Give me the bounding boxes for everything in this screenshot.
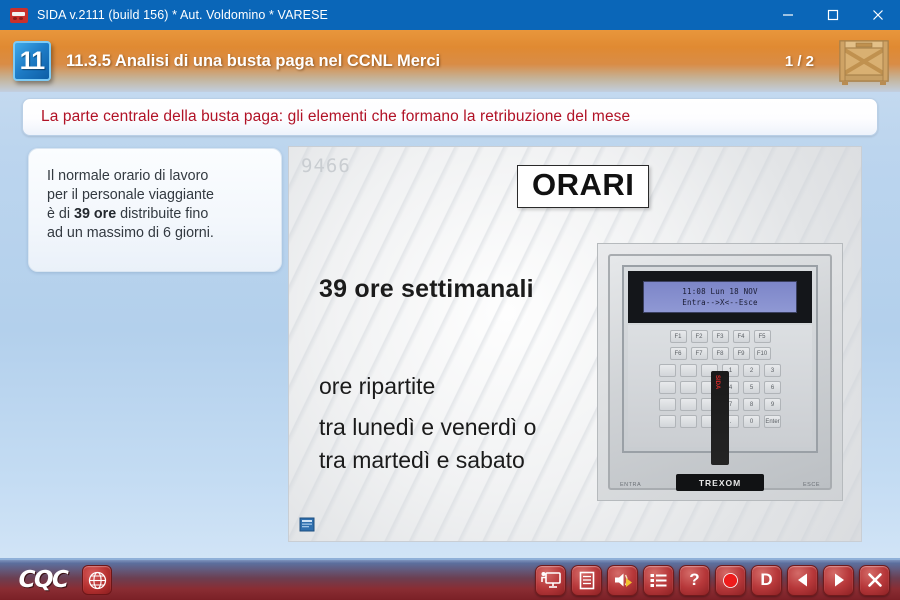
lcd-display: 11:08 Lun 18 NOV Entra-->X<--Esce — [643, 281, 796, 313]
device-label-entra: ENTRA — [620, 482, 641, 488]
arrow-left-icon — [794, 572, 812, 588]
key-f2[interactable]: F2 — [691, 330, 708, 343]
device-inner-panel: 11:08 Lun 18 NOV Entra-->X<--Esce F1 F2 … — [622, 265, 818, 453]
key-f1[interactable]: F1 — [670, 330, 687, 343]
device-brand-plate: TREXOM — [676, 474, 764, 491]
lesson-number: 11 — [20, 49, 44, 74]
device-label-esce: ESCE — [803, 482, 820, 488]
key-f7[interactable]: F7 — [691, 347, 708, 360]
maximize-button[interactable] — [810, 0, 855, 30]
bottom-toolbar: CQC — [0, 558, 900, 600]
application-window: SIDA v.2111 (build 156) * Aut. Voldomino… — [0, 0, 900, 600]
key-icon-7[interactable] — [659, 398, 676, 411]
note-panel: Il normale orario di lavoro per il perso… — [28, 148, 282, 272]
help-button[interactable]: ? — [679, 565, 710, 596]
days-text: tra lunedì e venerdì o tra martedì e sab… — [319, 411, 536, 477]
key-enter[interactable]: Enter — [764, 415, 781, 428]
record-button[interactable] — [715, 565, 746, 596]
orari-title-box: ORARI — [517, 165, 649, 208]
cqc-logo: CQC — [12, 567, 74, 593]
list-icon — [649, 572, 668, 589]
key-9[interactable]: 9 — [764, 398, 781, 411]
key-icon-4[interactable] — [659, 381, 676, 394]
key-f6[interactable]: F6 — [670, 347, 687, 360]
note-line-3-post: distribuite fino — [116, 206, 208, 222]
note-text: Il normale orario di lavoro per il perso… — [47, 167, 267, 243]
next-button[interactable] — [823, 565, 854, 596]
document-button[interactable] — [571, 565, 602, 596]
key-6[interactable]: 6 — [764, 381, 781, 394]
definition-button[interactable]: D — [751, 565, 782, 596]
slide-content-image: 9466 ORARI 39 ore settimanali ore ripart… — [288, 146, 862, 542]
title-bar: SIDA v.2111 (build 156) * Aut. Voldomino… — [0, 0, 900, 30]
key-5[interactable]: 5 — [743, 381, 760, 394]
key-f3[interactable]: F3 — [712, 330, 729, 343]
note-line-3-pre: è di — [47, 206, 74, 222]
key-3[interactable]: 3 — [764, 364, 781, 377]
key-icon-1[interactable] — [659, 364, 676, 377]
function-key-row-2: F6 F7 F8 F9 F10 — [634, 347, 806, 360]
lesson-header: 11 11.3.5 Analisi di una busta paga nel … — [0, 30, 900, 92]
close-button[interactable] — [859, 565, 890, 596]
lesson-number-badge: 11 — [10, 38, 54, 84]
key-icon-8[interactable] — [680, 398, 697, 411]
red-circle-icon — [721, 571, 740, 590]
subtitle-text: La parte centrale della busta paga: gli … — [41, 108, 630, 126]
lcd-panel: 11:08 Lun 18 NOV Entra-->X<--Esce — [628, 271, 812, 323]
globe-icon[interactable] — [82, 565, 112, 595]
key-icon-2[interactable] — [680, 364, 697, 377]
key-f10[interactable]: F10 — [754, 347, 771, 360]
document-thumbnail-icon[interactable] — [299, 517, 316, 533]
page-title: 11.3.5 Analisi di una busta paga nel CCN… — [66, 52, 785, 71]
key-f5[interactable]: F5 — [754, 330, 771, 343]
speaker-play-icon — [613, 571, 633, 589]
page-indicator: 1 / 2 — [785, 53, 814, 70]
key-f8[interactable]: F8 — [712, 347, 729, 360]
minimize-button[interactable] — [765, 0, 810, 30]
key-f4[interactable]: F4 — [733, 330, 750, 343]
key-2[interactable]: 2 — [743, 364, 760, 377]
key-out[interactable] — [659, 415, 676, 428]
toolbar-button-group: ? D — [535, 565, 890, 596]
document-icon — [578, 571, 596, 590]
arrow-right-icon — [830, 572, 848, 588]
sida-side-strip — [711, 371, 729, 465]
x-icon — [866, 571, 884, 589]
days-line-1: tra lunedì e venerdì o — [319, 414, 536, 440]
truck-icon — [10, 8, 28, 23]
previous-button[interactable] — [787, 565, 818, 596]
monitor-icon — [541, 571, 561, 589]
time-clock-device-photo: 11:08 Lun 18 NOV Entra-->X<--Esce F1 F2 … — [597, 243, 843, 501]
lcd-line-1: 11:08 Lun 18 NOV — [682, 286, 757, 297]
subline-text: ore ripartite — [319, 373, 435, 400]
orari-label: ORARI — [532, 169, 634, 202]
device-keypad: F1 F2 F3 F4 F5 F6 F7 F8 F9 F10 — [628, 325, 812, 447]
key-8[interactable]: 8 — [743, 398, 760, 411]
note-line-4: ad un massimo di 6 giorni. — [47, 225, 214, 241]
note-line-1: Il normale orario di lavoro — [47, 168, 208, 184]
close-window-button[interactable] — [855, 0, 900, 30]
watermark-number: 9466 — [301, 155, 351, 177]
device-bezel: 11:08 Lun 18 NOV Entra-->X<--Esce F1 F2 … — [608, 254, 832, 490]
index-button[interactable] — [643, 565, 674, 596]
key-f9[interactable]: F9 — [733, 347, 750, 360]
audio-button[interactable] — [607, 565, 638, 596]
headline-text: 39 ore settimanali — [319, 275, 534, 304]
key-0[interactable]: 0 — [743, 415, 760, 428]
window-controls — [765, 0, 900, 30]
window-title: SIDA v.2111 (build 156) * Aut. Voldomino… — [37, 8, 765, 22]
presentation-button[interactable] — [535, 565, 566, 596]
wooden-crate-icon — [836, 35, 892, 87]
note-highlight: 39 ore — [74, 206, 116, 222]
subtitle-banner: La parte centrale della busta paga: gli … — [22, 98, 878, 136]
key-icon-5[interactable] — [680, 381, 697, 394]
function-key-row-1: F1 F2 F3 F4 F5 — [634, 330, 806, 343]
note-line-2: per il personale viaggiante — [47, 187, 214, 203]
key-icon-10[interactable] — [680, 415, 697, 428]
lcd-line-2: Entra-->X<--Esce — [682, 297, 757, 308]
days-line-2: tra martedì e sabato — [319, 447, 525, 473]
